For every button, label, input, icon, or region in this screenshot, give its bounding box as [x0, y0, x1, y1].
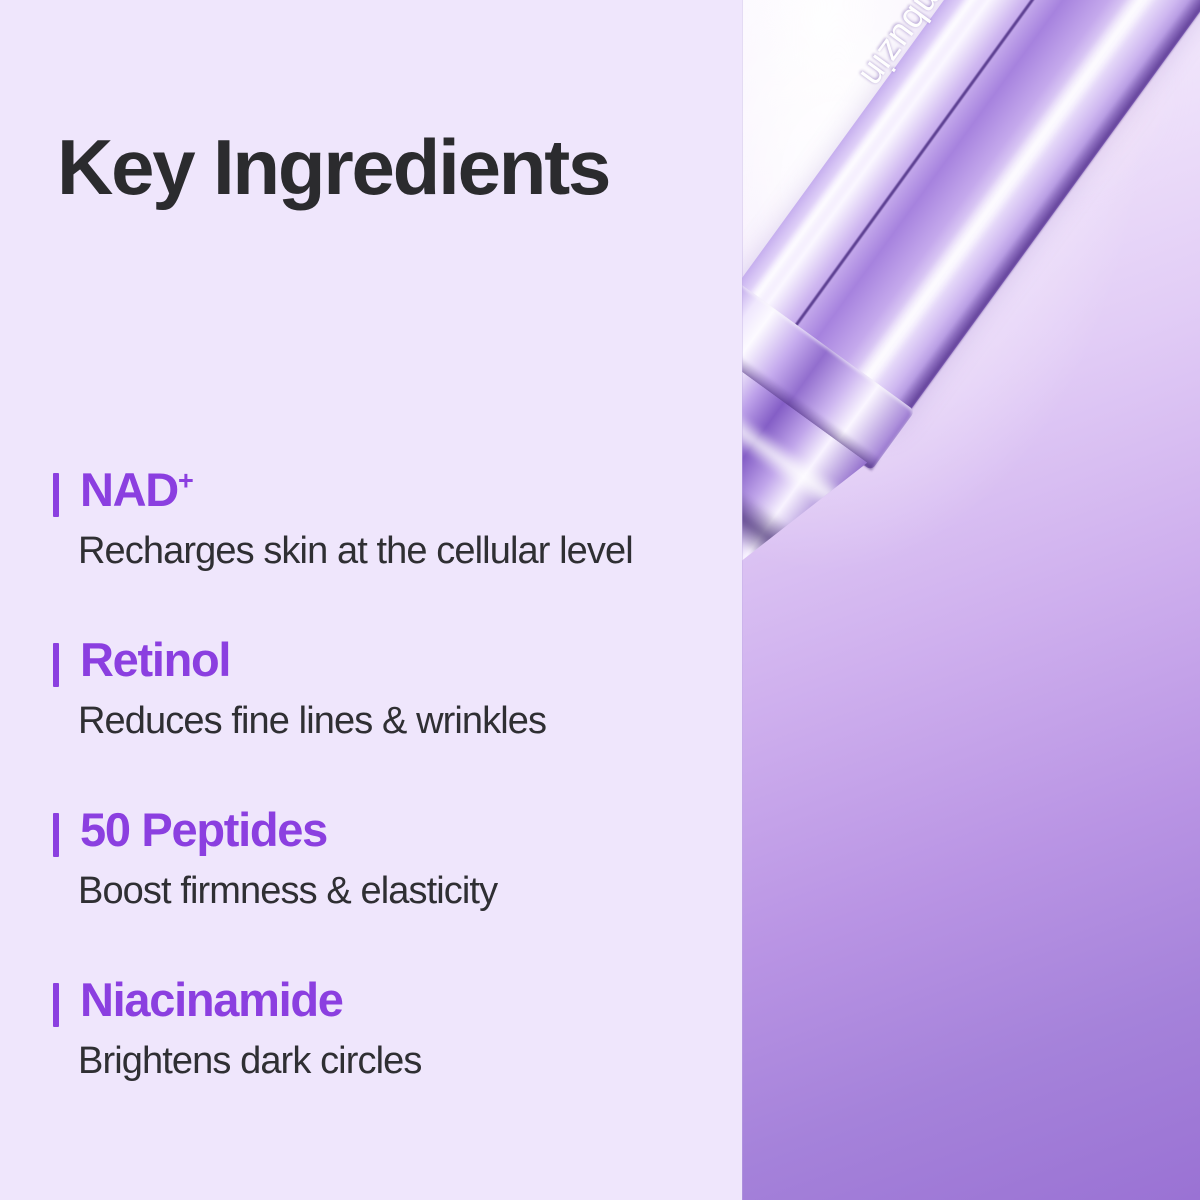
- ingredient-name: Niacinamide: [80, 969, 343, 1030]
- ingredient-description: Brightens dark circles: [78, 1037, 421, 1086]
- accent-bar-icon: [53, 813, 59, 857]
- ingredient-description: Recharges skin at the cellular level: [78, 527, 633, 576]
- ingredient-name: 50 Peptides: [80, 799, 327, 860]
- ingredient-item-niacinamide: Niacinamide Brightens dark circles: [0, 975, 742, 1145]
- ingredient-item-retinol: Retinol Reduces fine lines & wrinkles: [0, 635, 742, 805]
- serum-tube: numbuzin NAD+: [742, 0, 1200, 890]
- ingredient-description: Reduces fine lines & wrinkles: [78, 697, 546, 746]
- text-panel: Key Ingredients NAD+ Recharges skin at t…: [0, 0, 742, 1200]
- ingredient-name-text: Retinol: [80, 633, 230, 686]
- ingredient-list: NAD+ Recharges skin at the cellular leve…: [0, 465, 742, 1145]
- ingredient-item-peptides: 50 Peptides Boost firmness & elasticity: [0, 805, 742, 975]
- accent-bar-icon: [53, 473, 59, 517]
- ingredient-item-nad: NAD+ Recharges skin at the cellular leve…: [0, 465, 742, 635]
- ingredient-description: Boost firmness & elasticity: [78, 867, 497, 916]
- page-title: Key Ingredients: [57, 128, 609, 206]
- ingredient-name-text: NAD: [80, 463, 178, 516]
- product-photo: numbuzin NAD+: [742, 0, 1200, 1200]
- key-ingredients-infographic: Key Ingredients NAD+ Recharges skin at t…: [0, 0, 1200, 1200]
- ingredient-name: NAD+: [80, 459, 192, 520]
- accent-bar-icon: [53, 983, 59, 1027]
- ingredient-superscript: +: [178, 465, 192, 495]
- ingredient-name: Retinol: [80, 629, 230, 690]
- ingredient-name-text: 50 Peptides: [80, 803, 327, 856]
- accent-bar-icon: [53, 643, 59, 687]
- ingredient-name-text: Niacinamide: [80, 973, 343, 1026]
- panel-divider: [742, 0, 743, 1200]
